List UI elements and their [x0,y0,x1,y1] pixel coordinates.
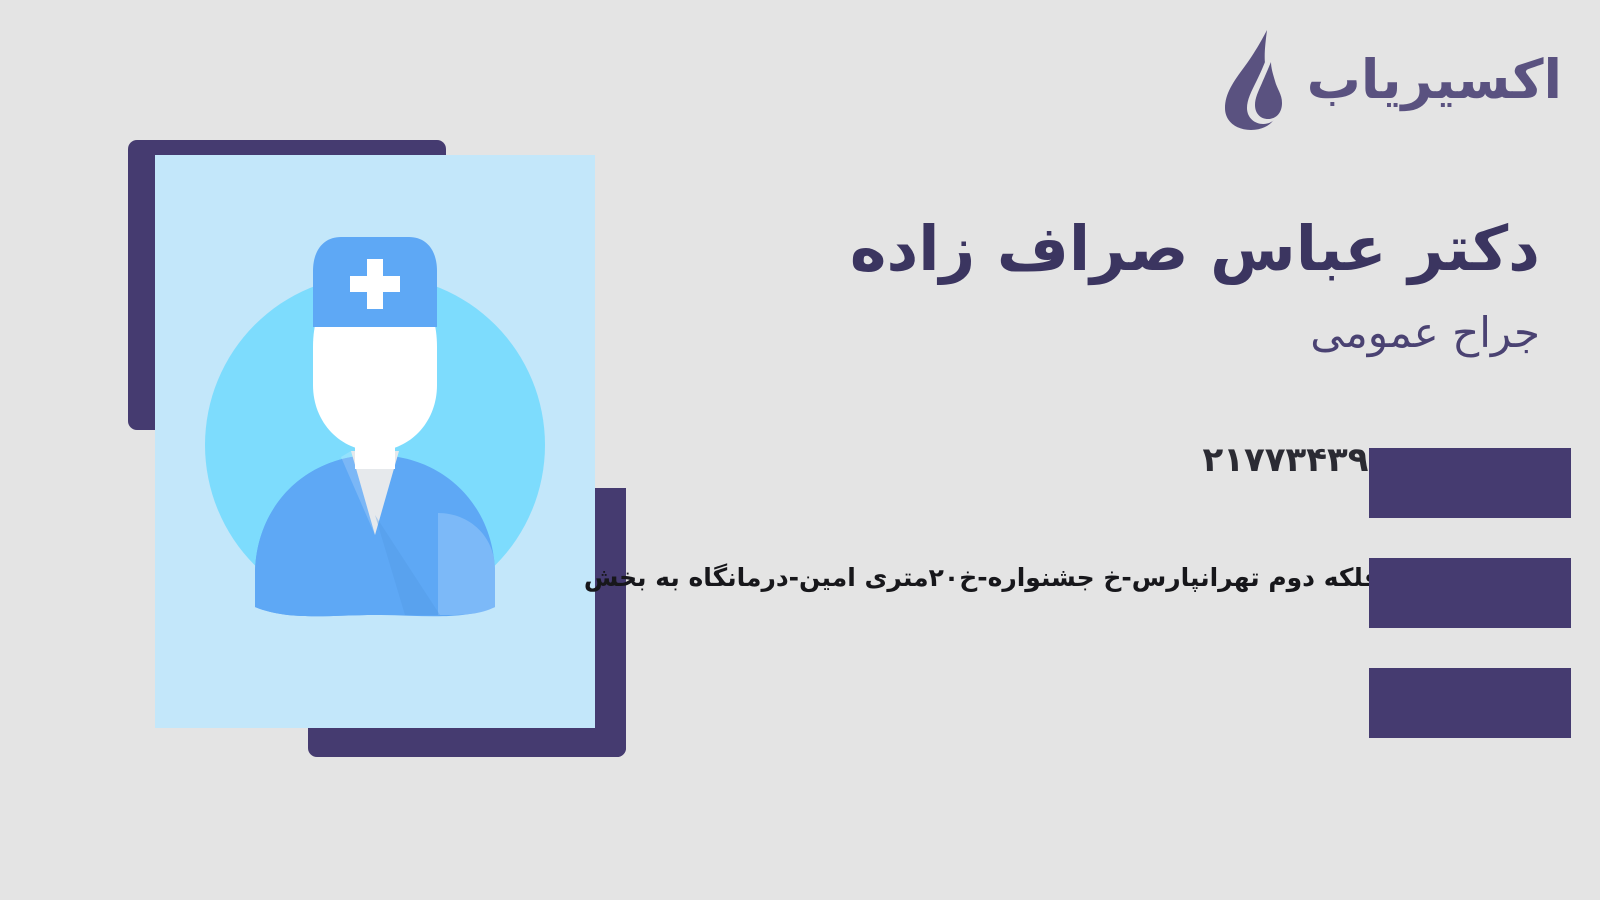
doctor-info: دکتر عباس صراف زاده جراح عمومی [580,210,1540,360]
brand-name: اکسیریاب [1307,53,1562,107]
doctor-address: فلکه دوم تهرانپارس-خ جشنواره-خ۲۰متری امی… [584,563,1380,592]
doctor-avatar-icon [155,155,595,728]
decor-bar-2 [1369,558,1571,628]
decor-bar-1 [1369,448,1571,518]
doctor-name: دکتر عباس صراف زاده [580,210,1540,288]
business-card: اکسیریاب [0,0,1600,900]
doctor-photo-panel [155,155,595,728]
doctor-specialty: جراح عمومی [580,306,1540,361]
brand-logo: اکسیریاب [1217,28,1562,132]
decor-square-front-right [594,488,626,757]
decor-square-front-bottom [308,725,626,757]
flame-droplet-icon [1217,28,1293,132]
doctor-illustration [128,140,628,760]
decor-bar-3 [1369,668,1571,738]
